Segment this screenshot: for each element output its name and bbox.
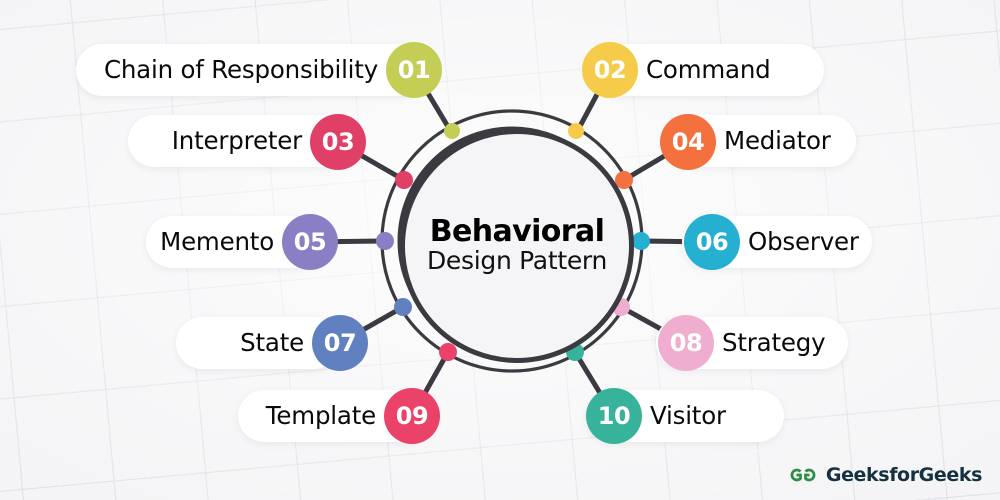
node-label-text-10: Visitor	[650, 404, 726, 429]
node-badge-03[interactable]: 03	[310, 114, 366, 170]
spoke-line-01	[426, 91, 450, 130]
node-badge-10[interactable]: 10	[586, 388, 642, 444]
node-badge-01[interactable]: 01	[386, 42, 442, 98]
node-badge-07[interactable]: 07	[312, 315, 368, 371]
diagram-canvas: Behavioral Design Pattern Chain of Respo…	[0, 0, 1000, 500]
center-title-line1: Behavioral	[430, 216, 605, 248]
center-hub: Behavioral Design Pattern	[400, 129, 634, 363]
geeksforgeeks-wordmark: GeeksforGeeks	[826, 464, 982, 486]
spoke-line-02	[578, 91, 599, 130]
node-badge-04[interactable]: 04	[660, 114, 716, 170]
node-label-text-01: Chain of Responsibility	[104, 58, 378, 83]
node-badge-05[interactable]: 05	[282, 214, 338, 270]
ring-dot-09	[439, 343, 457, 361]
ring-dot-01	[444, 123, 460, 139]
ring-dot-05	[376, 232, 394, 250]
node-badge-09[interactable]: 09	[384, 388, 440, 444]
node-label-text-05: Memento	[160, 230, 274, 255]
ring-dot-07	[394, 298, 412, 316]
node-label-text-06: Observer	[748, 230, 859, 255]
gfg-mark-icon	[788, 464, 818, 486]
node-label-text-03: Interpreter	[172, 129, 302, 154]
ring-dot-03	[395, 171, 413, 189]
node-label-text-04: Mediator	[724, 129, 831, 154]
node-badge-02[interactable]: 02	[582, 42, 638, 98]
node-badge-06[interactable]: 06	[684, 214, 740, 270]
node-label-text-02: Command	[646, 58, 771, 83]
node-badge-08[interactable]: 08	[658, 315, 714, 371]
node-label-text-09: Template	[266, 404, 376, 429]
geeksforgeeks-logo: GeeksforGeeks	[788, 464, 982, 486]
ring-dot-06	[632, 232, 650, 250]
ring-dot-02	[568, 123, 584, 139]
center-title-line2: Design Pattern	[427, 247, 607, 276]
node-label-pill-01[interactable]: Chain of Responsibility	[76, 44, 426, 96]
node-label-text-07: State	[240, 331, 304, 356]
node-label-text-08: Strategy	[722, 331, 825, 356]
